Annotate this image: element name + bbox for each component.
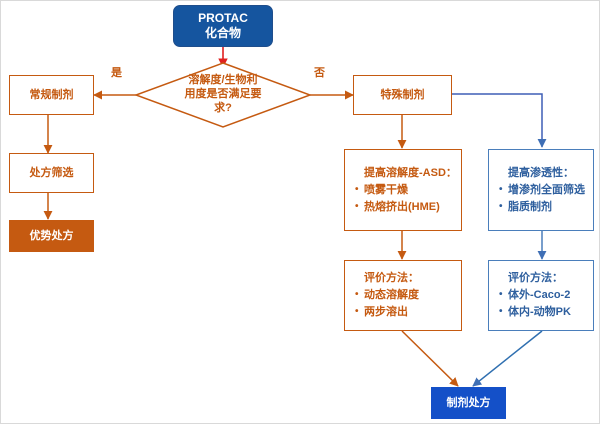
edge-permeability-eval-to-final <box>473 331 542 386</box>
decision-line1: 溶解度/生物利 <box>188 73 257 87</box>
node-advantaged-label: 优势处方 <box>30 229 74 244</box>
bullet-item: 喷雾干燥 <box>355 182 440 199</box>
node-protac-line2: 化合物 <box>205 26 241 41</box>
node-final-label: 制剂处方 <box>447 396 491 411</box>
bullet-item: 热熔挤出(HME) <box>355 199 440 216</box>
decision-line3: 求? <box>214 101 232 115</box>
flowchart-canvas: PROTAC 化合物 溶解度/生物利 用度是否满足要 求? 是 否 常规制剂 处… <box>0 0 600 424</box>
node-conventional-label: 常规制剂 <box>30 88 74 103</box>
node-improve-permeability-title: 提高渗透性： <box>499 165 574 181</box>
node-permeability-evaluation[interactable]: 评价方法： 体外-Caco-2 体内-动物PK <box>488 260 594 331</box>
decision-label[interactable]: 溶解度/生物利 用度是否满足要 求? <box>161 65 285 123</box>
node-solubility-evaluation[interactable]: 评价方法： 动态溶解度 两步溶出 <box>344 260 462 331</box>
node-protac[interactable]: PROTAC 化合物 <box>173 5 273 47</box>
node-improve-solubility-bullets: 喷雾干燥 热熔挤出(HME) <box>355 182 440 216</box>
bullet-item: 增渗剂全面筛选 <box>499 182 585 199</box>
node-solubility-evaluation-title: 评价方法： <box>355 270 419 286</box>
node-protac-line1: PROTAC <box>198 11 248 26</box>
node-formulation-screening[interactable]: 处方筛选 <box>9 153 94 193</box>
node-improve-permeability-bullets: 增渗剂全面筛选 脂质制剂 <box>499 182 585 216</box>
node-permeability-evaluation-bullets: 体外-Caco-2 体内-动物PK <box>499 287 571 321</box>
node-conventional-formulation[interactable]: 常规制剂 <box>9 75 94 115</box>
bullet-item: 脂质制剂 <box>499 199 585 216</box>
node-final-formulation[interactable]: 制剂处方 <box>431 387 506 419</box>
node-screening-label: 处方筛选 <box>30 166 74 181</box>
node-solubility-evaluation-bullets: 动态溶解度 两步溶出 <box>355 287 419 321</box>
node-improve-solubility-title: 提高溶解度-ASD： <box>355 165 457 181</box>
bullet-item: 体内-动物PK <box>499 304 571 321</box>
node-advantaged-formulation[interactable]: 优势处方 <box>9 220 94 252</box>
edge-label-no: 否 <box>314 67 325 80</box>
edge-special-to-permeability <box>452 94 542 147</box>
node-improve-solubility[interactable]: 提高溶解度-ASD： 喷雾干燥 热熔挤出(HME) <box>344 149 462 231</box>
node-permeability-evaluation-title: 评价方法： <box>499 270 563 286</box>
node-special-formulation[interactable]: 特殊制剂 <box>353 75 452 115</box>
node-special-label: 特殊制剂 <box>381 88 425 103</box>
bullet-item: 两步溶出 <box>355 304 419 321</box>
edge-label-yes: 是 <box>111 67 122 80</box>
bullet-item: 体外-Caco-2 <box>499 287 571 304</box>
edge-solubility-eval-to-final <box>402 331 458 386</box>
decision-line2: 用度是否满足要 <box>185 87 262 101</box>
bullet-item: 动态溶解度 <box>355 287 419 304</box>
node-improve-permeability[interactable]: 提高渗透性： 增渗剂全面筛选 脂质制剂 <box>488 149 594 231</box>
